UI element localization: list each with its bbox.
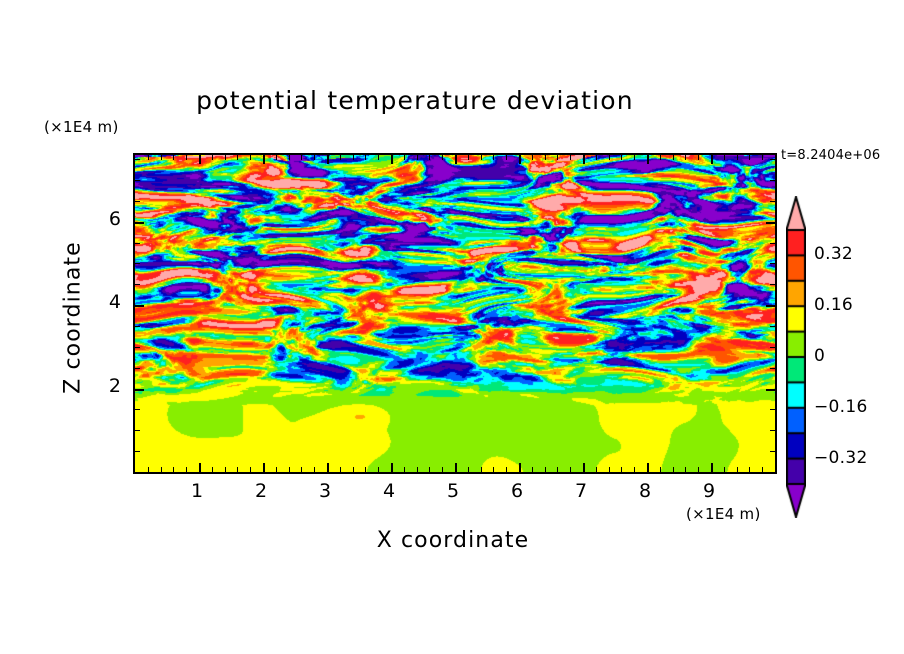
y-major-tick (766, 222, 775, 224)
x-minor-tick (545, 155, 546, 160)
x-axis-unit-label: (×1E4 m) (686, 505, 761, 523)
x-minor-tick (353, 467, 354, 472)
x-minor-tick (301, 467, 302, 472)
y-minor-tick (770, 201, 775, 202)
x-minor-tick (685, 467, 686, 472)
x-minor-tick (596, 155, 597, 160)
x-minor-tick (570, 155, 571, 160)
x-minor-tick (685, 155, 686, 160)
x-minor-tick (506, 467, 507, 472)
x-minor-tick (698, 467, 699, 472)
x-minor-tick (481, 467, 482, 472)
x-major-tick (391, 463, 393, 472)
x-minor-tick (532, 467, 533, 472)
page-title: potential temperature deviation (0, 86, 830, 115)
x-minor-tick (301, 155, 302, 160)
x-minor-tick (724, 155, 725, 160)
y-minor-tick (770, 409, 775, 410)
x-minor-tick (634, 467, 635, 472)
y-minor-tick (135, 180, 140, 181)
x-minor-tick (365, 467, 366, 472)
y-major-tick (135, 222, 144, 224)
x-tick-label: 2 (241, 480, 281, 502)
x-minor-tick (186, 467, 187, 472)
x-tick-label: 3 (305, 480, 345, 502)
x-tick-label: 8 (625, 480, 665, 502)
x-minor-tick (365, 155, 366, 160)
x-minor-tick (237, 155, 238, 160)
x-minor-tick (660, 467, 661, 472)
colorbar[interactable] (786, 196, 806, 518)
colorbar-tick-label: 0.32 (814, 244, 853, 264)
x-minor-tick (442, 155, 443, 160)
y-minor-tick (135, 159, 140, 160)
x-tick-label: 4 (369, 480, 409, 502)
colorbar-tick-label: 0 (814, 346, 825, 366)
x-minor-tick (468, 467, 469, 472)
x-tick-label: 7 (561, 480, 601, 502)
x-minor-tick (186, 155, 187, 160)
y-tick-label: 6 (81, 208, 121, 230)
x-major-tick (199, 463, 201, 472)
x-minor-tick (429, 467, 430, 472)
x-minor-tick (762, 155, 763, 160)
y-minor-tick (135, 201, 140, 202)
x-minor-tick (737, 467, 738, 472)
y-minor-tick (770, 180, 775, 181)
x-minor-tick (634, 155, 635, 160)
contour-plot-area[interactable] (133, 153, 777, 474)
x-minor-tick (621, 467, 622, 472)
x-major-tick (391, 155, 393, 164)
y-minor-tick (135, 430, 140, 431)
x-minor-tick (404, 155, 405, 160)
x-minor-tick (749, 467, 750, 472)
x-minor-tick (493, 155, 494, 160)
y-minor-tick (135, 263, 140, 264)
x-minor-tick (289, 155, 290, 160)
x-minor-tick (737, 155, 738, 160)
x-tick-label: 6 (497, 480, 537, 502)
x-minor-tick (417, 467, 418, 472)
x-major-tick (327, 155, 329, 164)
x-major-tick (711, 463, 713, 472)
x-minor-tick (609, 467, 610, 472)
x-minor-tick (148, 467, 149, 472)
x-major-tick (583, 155, 585, 164)
x-major-tick (519, 463, 521, 472)
x-major-tick (455, 155, 457, 164)
x-major-tick (263, 155, 265, 164)
y-axis-unit-label: (×1E4 m) (44, 118, 119, 136)
y-tick-label: 2 (81, 375, 121, 397)
y-minor-tick (135, 243, 140, 244)
x-minor-tick (378, 155, 379, 160)
x-tick-label: 5 (433, 480, 473, 502)
y-minor-tick (770, 347, 775, 348)
y-minor-tick (770, 243, 775, 244)
colorbar-tick-label: −0.32 (814, 448, 868, 468)
x-minor-tick (609, 155, 610, 160)
x-minor-tick (417, 155, 418, 160)
x-minor-tick (314, 467, 315, 472)
y-minor-tick (770, 159, 775, 160)
x-minor-tick (724, 467, 725, 472)
x-minor-tick (212, 467, 213, 472)
x-major-tick (327, 463, 329, 472)
y-minor-tick (770, 263, 775, 264)
y-minor-tick (135, 326, 140, 327)
x-tick-label: 1 (177, 480, 217, 502)
x-major-tick (583, 463, 585, 472)
y-minor-tick (770, 451, 775, 452)
x-minor-tick (749, 155, 750, 160)
x-minor-tick (173, 155, 174, 160)
x-minor-tick (673, 467, 674, 472)
x-tick-label: 9 (689, 480, 729, 502)
x-minor-tick (340, 155, 341, 160)
colorbar-gradient (786, 196, 806, 518)
x-minor-tick (161, 467, 162, 472)
x-minor-tick (225, 155, 226, 160)
x-minor-tick (314, 155, 315, 160)
x-minor-tick (289, 467, 290, 472)
x-minor-tick (429, 155, 430, 160)
contour-field (135, 155, 775, 472)
y-minor-tick (135, 347, 140, 348)
y-minor-tick (770, 368, 775, 369)
x-minor-tick (225, 467, 226, 472)
x-minor-tick (161, 155, 162, 160)
y-axis-title: Z coordinate (61, 178, 86, 458)
colorbar-tick-label: 0.16 (814, 295, 853, 315)
x-minor-tick (173, 467, 174, 472)
x-minor-tick (493, 467, 494, 472)
x-minor-tick (276, 467, 277, 472)
x-minor-tick (237, 467, 238, 472)
x-major-tick (711, 155, 713, 164)
y-major-tick (766, 389, 775, 391)
colorbar-tick-label: −0.16 (814, 397, 868, 417)
x-minor-tick (762, 467, 763, 472)
y-minor-tick (770, 430, 775, 431)
y-minor-tick (770, 326, 775, 327)
y-major-tick (766, 305, 775, 307)
x-minor-tick (545, 467, 546, 472)
x-minor-tick (621, 155, 622, 160)
time-annotation: t=8.2404e+06 (781, 148, 880, 163)
x-minor-tick (698, 155, 699, 160)
x-minor-tick (557, 155, 558, 160)
x-minor-tick (404, 467, 405, 472)
x-major-tick (647, 155, 649, 164)
y-major-tick (135, 389, 144, 391)
x-major-tick (455, 463, 457, 472)
x-minor-tick (378, 467, 379, 472)
x-minor-tick (276, 155, 277, 160)
x-minor-tick (532, 155, 533, 160)
x-major-tick (199, 155, 201, 164)
x-minor-tick (353, 155, 354, 160)
x-minor-tick (596, 467, 597, 472)
x-axis-title: X coordinate (133, 528, 773, 553)
x-minor-tick (673, 155, 674, 160)
y-major-tick (135, 305, 144, 307)
x-minor-tick (442, 467, 443, 472)
y-minor-tick (135, 284, 140, 285)
y-minor-tick (135, 409, 140, 410)
x-minor-tick (660, 155, 661, 160)
y-minor-tick (770, 284, 775, 285)
y-minor-tick (135, 451, 140, 452)
x-minor-tick (340, 467, 341, 472)
x-minor-tick (250, 155, 251, 160)
x-major-tick (647, 463, 649, 472)
y-tick-label: 4 (81, 291, 121, 313)
x-major-tick (519, 155, 521, 164)
x-minor-tick (481, 155, 482, 160)
x-major-tick (263, 463, 265, 472)
x-minor-tick (250, 467, 251, 472)
x-minor-tick (468, 155, 469, 160)
x-minor-tick (557, 467, 558, 472)
x-minor-tick (570, 467, 571, 472)
x-minor-tick (148, 155, 149, 160)
x-minor-tick (212, 155, 213, 160)
y-minor-tick (135, 368, 140, 369)
x-minor-tick (506, 155, 507, 160)
